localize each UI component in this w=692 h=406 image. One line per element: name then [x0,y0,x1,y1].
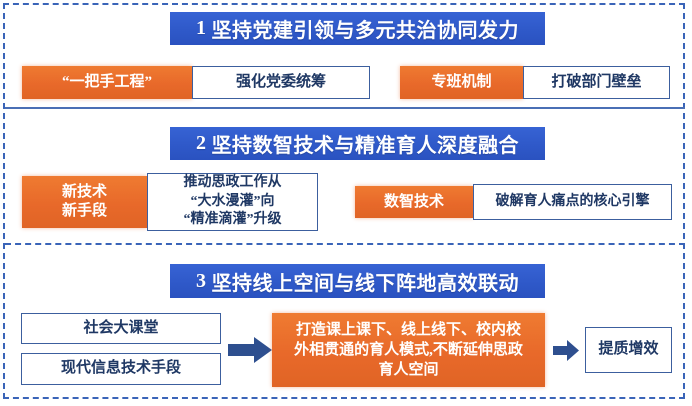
section-1-item-1-label: “一把手工程” [62,73,152,92]
section-2-item-1-label-line2: 新手段 [62,202,107,221]
section-3-item-3-orange[interactable]: 打造课上课下、线上线下、校内校 外相贯通的育人模式,不断延伸思政 育人空间 [272,313,545,387]
section-3-item-2-label: 现代信息技术手段 [61,359,181,379]
section-3-item-3-label-line3: 育人空间 [378,360,438,380]
section-1-item-2-white[interactable]: 强化党委统筹 [192,66,370,99]
section-3-item-2-white[interactable]: 现代信息技术手段 [21,353,221,385]
section-3-item-4-label: 提质增效 [598,340,658,360]
section-3-item-1-white[interactable]: 社会大课堂 [21,313,221,344]
section-3-number: 3 [196,270,207,293]
section-1-item-4-white[interactable]: 打破部门壁垒 [523,66,670,99]
diagram-canvas: 1 坚持党建引领与多元共治协同发力 “一把手工程” 强化党委统筹 专班机制 打破… [0,0,692,406]
section-2-title-text: 坚持数智技术与精准育人深度融合 [212,129,520,158]
section-1-item-4-label: 打破部门壁垒 [551,73,641,93]
section-3-item-4-white[interactable]: 提质增效 [585,327,672,373]
section-2-item-1-label-line1: 新技术 [62,183,107,202]
section-3-item-3-label-line1: 打造课上课下、线上线下、校内校 [296,320,521,340]
arrow-right-icon-small [553,340,579,361]
section-2-item-2-white[interactable]: 推动思政工作从 “大水漫灌”向 “精准滴灌”升级 [147,173,318,231]
section-2-item-2-label-line3: “精准滴灌”升级 [184,211,282,230]
section-2-item-1-orange[interactable]: 新技术 新手段 [22,176,147,228]
section-divider-1 [5,107,685,109]
section-2-item-3-label: 数智技术 [384,193,444,212]
section-2-item-2-label-line2: “大水漫灌”向 [191,193,275,212]
section-1-item-1-orange[interactable]: “一把手工程” [22,66,192,99]
section-1-title-banner: 1 坚持党建引领与多元共治协同发力 [170,12,545,45]
section-1-item-3-orange[interactable]: 专班机制 [400,66,523,99]
section-2-number: 2 [196,132,207,155]
section-1-item-2-label: 强化党委统筹 [236,73,326,93]
section-1-item-3-label: 专班机制 [431,73,491,92]
section-3-item-1-label: 社会大课堂 [83,319,158,339]
section-divider-2 [5,243,685,245]
section-1-title-text: 坚持党建引领与多元共治协同发力 [212,14,520,43]
arrow-right-icon-large [228,337,272,363]
section-2-item-2-label-line1: 推动思政工作从 [184,174,282,193]
section-3-title-banner: 3 坚持线上空间与线下阵地高效联动 [170,264,545,298]
section-1-number: 1 [196,17,207,40]
section-2-item-4-white[interactable]: 破解育人痛点的核心引擎 [473,184,672,220]
section-2-title-banner: 2 坚持数智技术与精准育人深度融合 [170,127,545,160]
section-3-title-text: 坚持线上空间与线下阵地高效联动 [212,267,520,296]
section-2-item-4-label: 破解育人痛点的核心引擎 [496,193,650,211]
section-2-item-3-orange[interactable]: 数智技术 [355,186,473,218]
section-3-item-3-label-line2: 外相贯通的育人模式,不断延伸思政 [294,340,523,360]
